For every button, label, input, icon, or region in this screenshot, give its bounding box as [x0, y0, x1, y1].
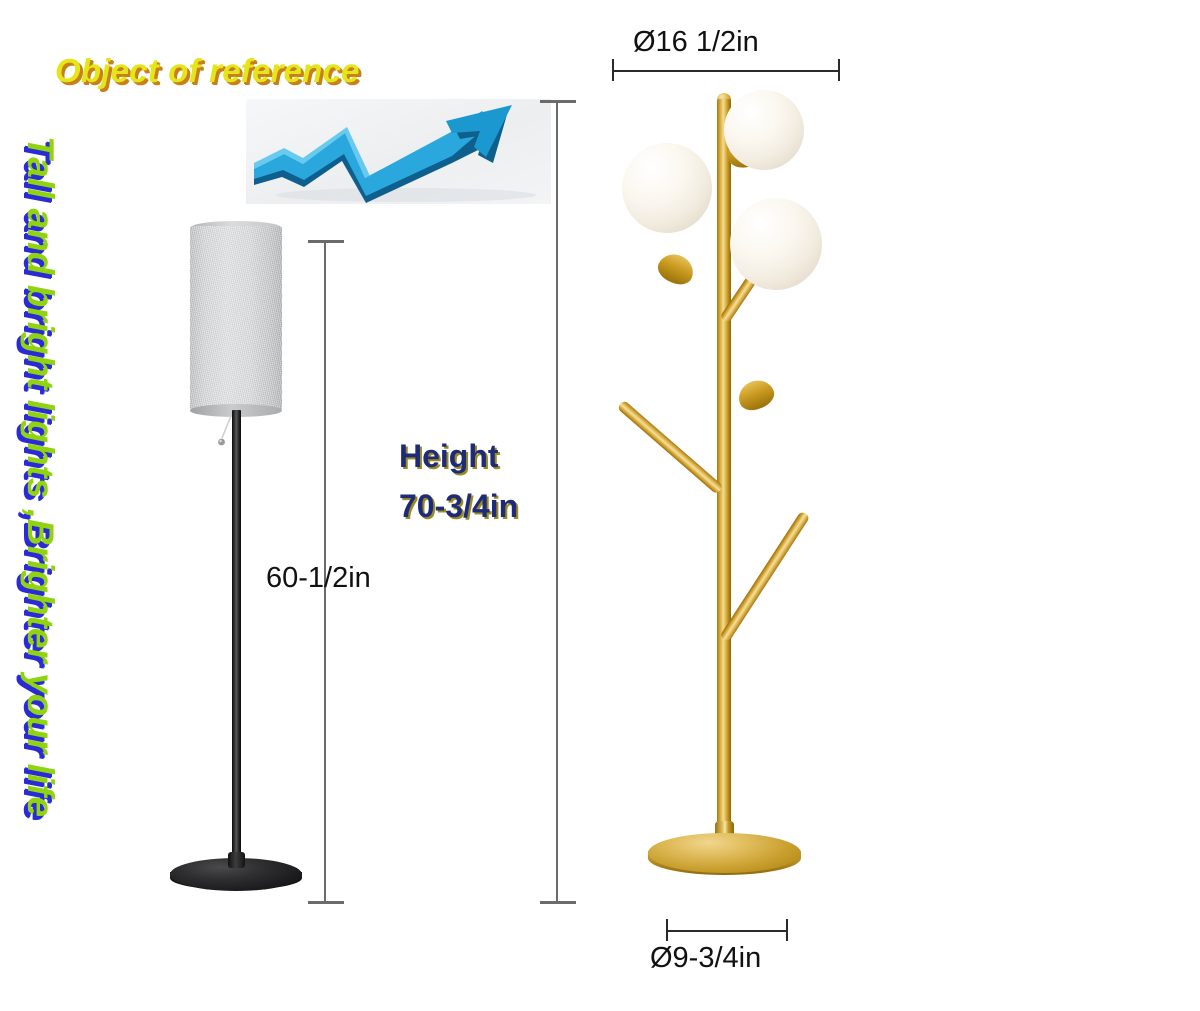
base-diameter-right-cap: [786, 919, 788, 941]
gold-lamp-socket-cup-left: [654, 249, 698, 289]
height-callout-value: 70-3/4in: [399, 482, 518, 532]
gold-lamp-base: [648, 833, 801, 873]
vertical-slogan-container: Tall and bright lights ,Brighter your li…: [0, 140, 60, 980]
height-callout-label: Height: [399, 432, 518, 482]
overall-height-dimension-line: [556, 100, 558, 904]
base-diameter-dimension-line: [666, 930, 788, 932]
gold-lamp-globe-right: [730, 198, 822, 290]
reference-lamp-gray-floor-lamp: [150, 220, 330, 910]
gray-lamp-base-collar: [228, 852, 245, 868]
gray-lamp-pull-chain-icon: [214, 416, 234, 450]
gold-lamp-branch-right: [719, 511, 810, 643]
base-diameter-label: Ø9-3/4in: [650, 942, 761, 975]
gold-lamp-socket-cup-right: [734, 375, 778, 414]
feature-lamp-gold-tree-floor-lamp: [600, 85, 890, 915]
top-diameter-right-cap: [838, 59, 840, 81]
overall-height-bottom-cap: [540, 901, 576, 904]
overall-height-callout: Height 70-3/4in: [399, 432, 518, 531]
gold-lamp-branch-left: [617, 400, 724, 495]
gray-lamp-shade: [190, 226, 282, 411]
vertical-slogan: Tall and bright lights ,Brighter your li…: [19, 136, 61, 996]
growth-arrow-icon: [246, 99, 551, 204]
gray-lamp-pole: [232, 410, 241, 880]
base-diameter-left-cap: [666, 919, 668, 941]
growth-arrow-panel: [246, 99, 551, 204]
overall-height-top-cap: [540, 100, 576, 103]
top-diameter-dimension-line: [612, 70, 840, 72]
gold-lamp-main-pole: [717, 99, 731, 839]
gold-lamp-globe-left: [622, 143, 712, 233]
product-dimension-infographic: Object of reference Tall and bright ligh…: [0, 0, 1200, 1011]
top-diameter-left-cap: [612, 59, 614, 81]
top-diameter-label: Ø16 1/2in: [633, 26, 759, 59]
gold-lamp-globe-top: [724, 90, 804, 170]
page-headline: Object of reference: [55, 52, 360, 90]
